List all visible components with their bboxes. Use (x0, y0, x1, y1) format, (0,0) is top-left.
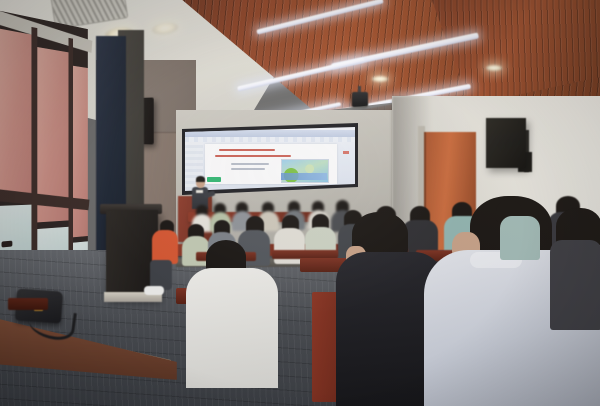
slide-ribbon (185, 137, 355, 142)
slide-heading-line (215, 155, 291, 157)
recessed-downlight (372, 76, 388, 82)
recessed-downlight (486, 65, 502, 71)
roller-blind (0, 28, 31, 198)
slide-marker (343, 151, 349, 154)
projection-screen (185, 127, 355, 191)
window-handle[interactable] (2, 241, 13, 248)
roller-blind (73, 66, 88, 238)
slide-body-line (231, 168, 265, 170)
wall-speaker-right (486, 118, 526, 168)
conference-room-photo (0, 0, 600, 406)
presenter-hair (196, 176, 205, 182)
slide-status-tab (207, 177, 221, 182)
slide-heading-line (219, 149, 275, 151)
presenter-badge (196, 190, 203, 193)
slide-body-line (231, 163, 269, 165)
slide-caption-band (281, 173, 327, 180)
chair-back-left-aisle[interactable] (8, 298, 48, 310)
projector-icon (352, 92, 368, 107)
